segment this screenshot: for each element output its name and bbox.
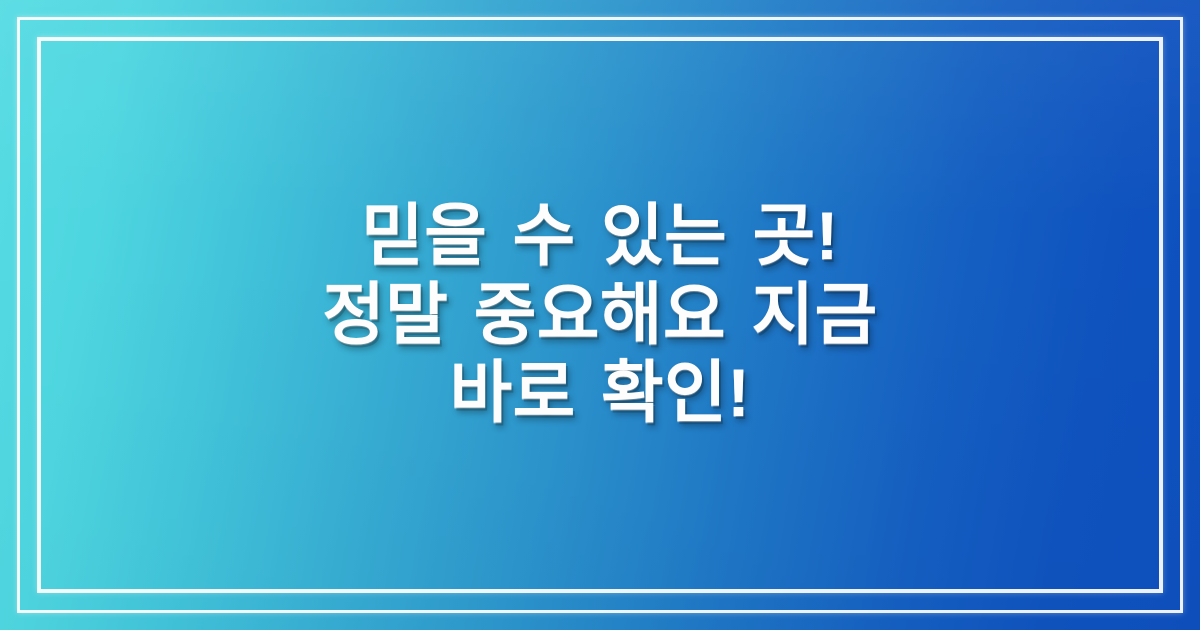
promo-banner: 믿을 수 있는 곳! 정말 중요해요 지금 바로 확인! [0,0,1200,630]
headline-line-2: 정말 중요해요 지금 [322,276,877,355]
headline-line-1: 믿을 수 있는 곳! [322,197,877,276]
headline-line-3: 바로 확인! [322,354,877,433]
banner-headline: 믿을 수 있는 곳! 정말 중요해요 지금 바로 확인! [322,197,877,434]
headline-container: 믿을 수 있는 곳! 정말 중요해요 지금 바로 확인! [0,0,1200,630]
